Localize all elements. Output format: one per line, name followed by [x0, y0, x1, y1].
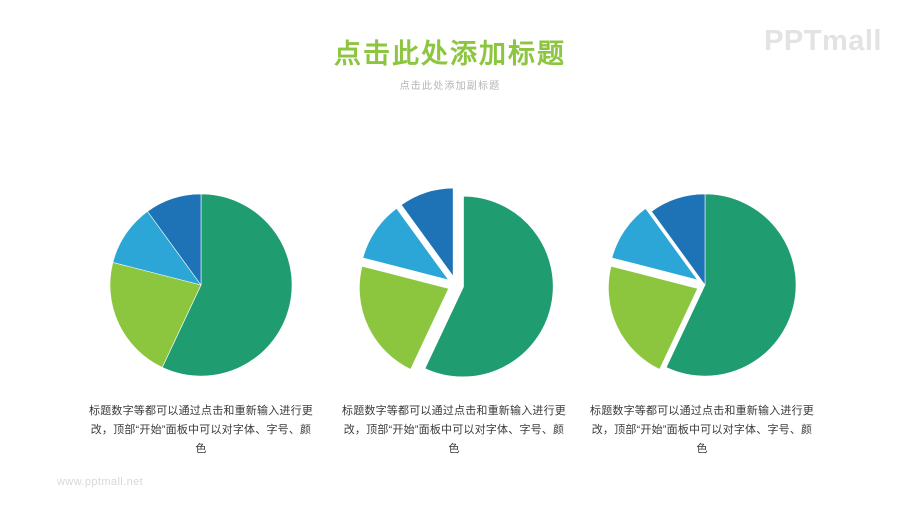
page-title[interactable]: 点击此处添加标题: [0, 38, 900, 72]
pie-svg: [580, 180, 830, 390]
page-subtitle[interactable]: 点击此处添加副标题: [0, 81, 900, 93]
footer-url: www.pptmall.net: [57, 476, 143, 488]
captions-row: 标题数字等都可以通过点击和重新输入进行更改，顶部“开始”面板中可以对字体、字号、…: [0, 402, 900, 462]
pie-chart-2[interactable]: [331, 180, 581, 390]
pie-chart-3[interactable]: [580, 180, 830, 390]
chart-caption-1[interactable]: 标题数字等都可以通过点击和重新输入进行更改，顶部“开始”面板中可以对字体、字号、…: [87, 402, 315, 459]
chart-caption-3[interactable]: 标题数字等都可以通过点击和重新输入进行更改，顶部“开始”面板中可以对字体、字号、…: [588, 402, 816, 459]
pie-svg: [331, 180, 581, 390]
title-block: 点击此处添加标题 点击此处添加副标题: [0, 38, 900, 93]
chart-caption-2[interactable]: 标题数字等都可以通过点击和重新输入进行更改，顶部“开始”面板中可以对字体、字号、…: [340, 402, 568, 459]
charts-row: [0, 180, 900, 390]
pie-chart-1[interactable]: [76, 180, 326, 390]
pie-svg: [76, 180, 326, 390]
